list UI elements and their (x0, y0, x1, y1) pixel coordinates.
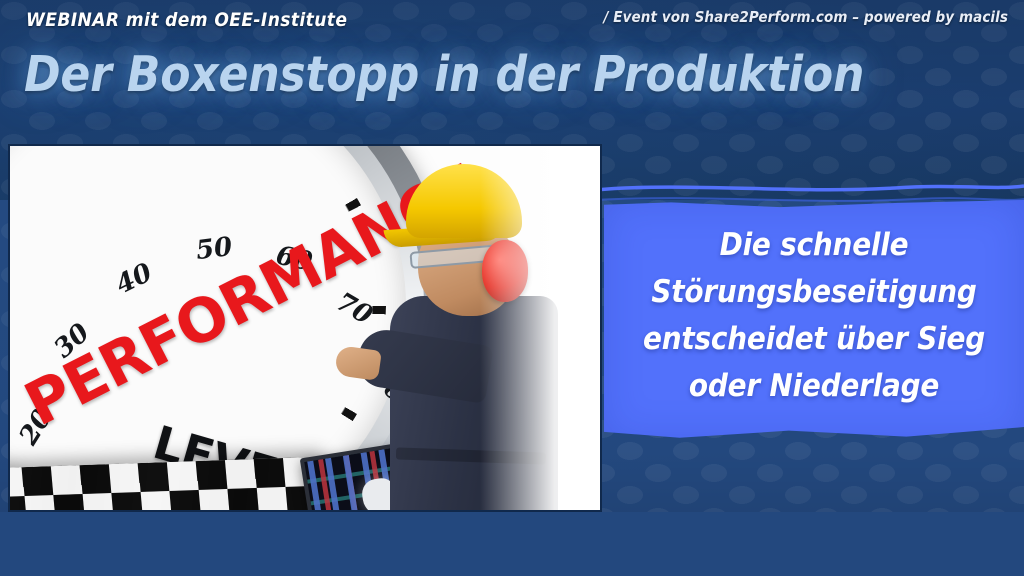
callout-text: Die schnelle Störungsbeseitigung entsche… (604, 222, 1024, 410)
photo-right-fade (480, 146, 600, 510)
gauge-tick-label: 50 (194, 232, 234, 266)
callout-box: Die schnelle Störungsbeseitigung entsche… (604, 200, 1024, 439)
byline-text: / Event von Share2Perform.com – powered … (603, 8, 1008, 26)
webinar-title-slide: WEBINAR mit dem OEE-Institute / Event vo… (0, 0, 1024, 576)
eyebrow-text: WEBINAR mit dem OEE-Institute (26, 9, 347, 31)
hero-photo: 20 30 40 50 60 70 80 PERFORMANCE LEVEL (8, 144, 602, 512)
hero-photo-inner: 20 30 40 50 60 70 80 PERFORMANCE LEVEL (10, 146, 600, 510)
bottom-strip (0, 512, 1024, 576)
page-title: Der Boxenstopp in der Produktion (24, 46, 864, 103)
